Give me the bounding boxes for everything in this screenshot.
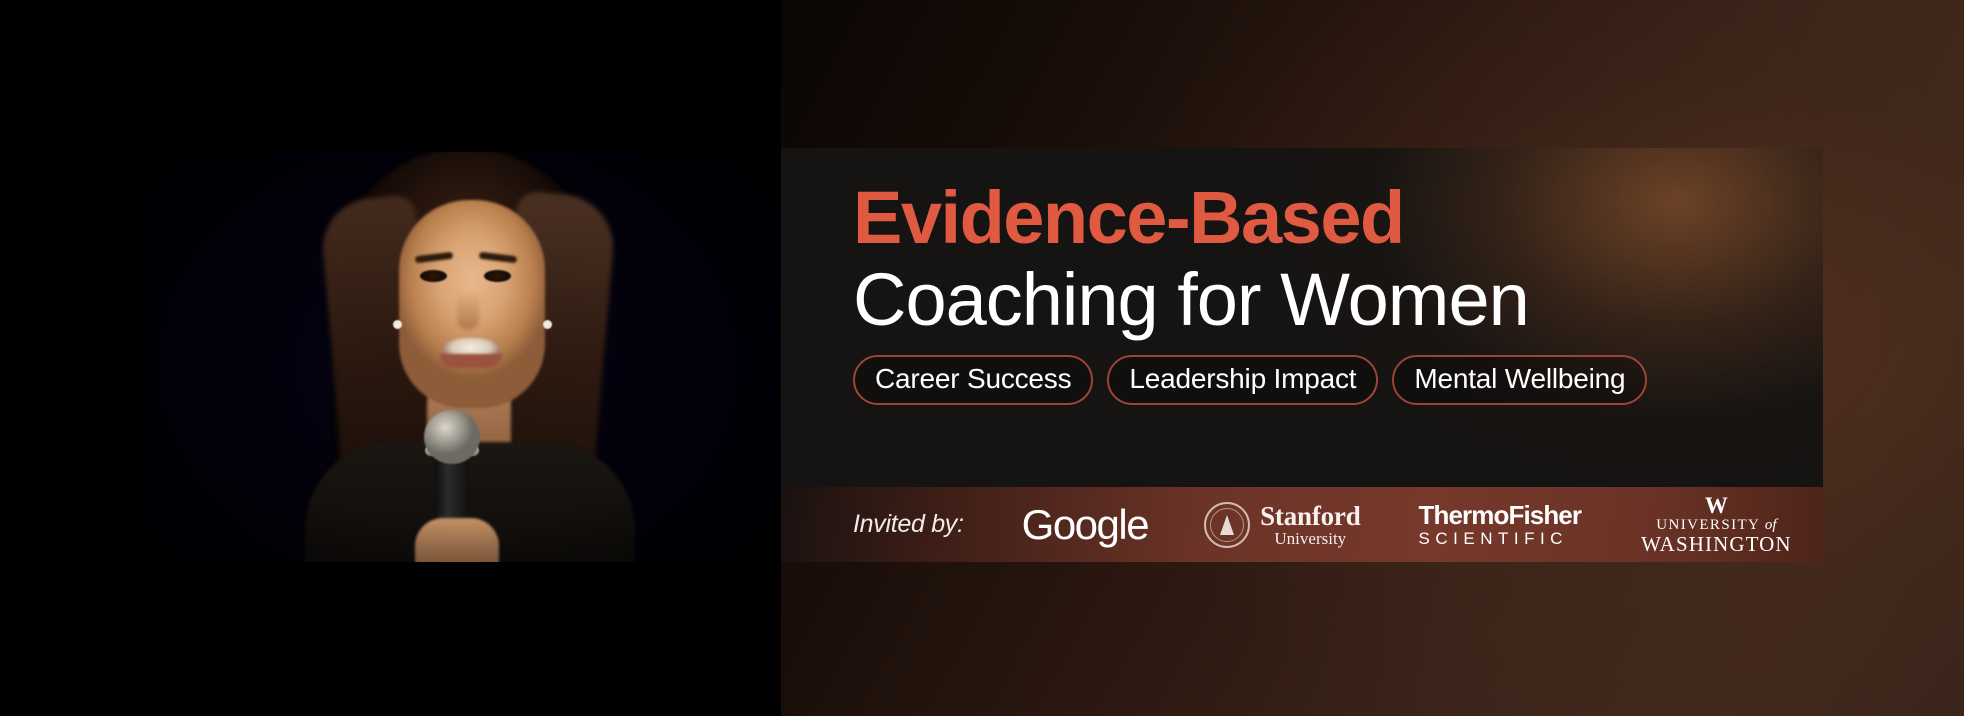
promo-panel: Evidence-Based Coaching for Women Career… (781, 148, 1823, 562)
headline-line-1: Evidence-Based (853, 182, 1823, 255)
topic-pill-career-success[interactable]: Career Success (853, 355, 1093, 405)
uw-university-word: UNIVERSITY (1656, 517, 1759, 533)
stanford-tree-icon (1220, 515, 1234, 535)
promo-content: Evidence-Based Coaching for Women Career… (781, 148, 1823, 405)
uw-monogram-icon: W (1641, 494, 1792, 517)
stanford-logo: Stanford University (1204, 502, 1360, 548)
stanford-wordmark: Stanford University (1260, 502, 1360, 548)
invited-by-label: Invited by: (853, 510, 964, 539)
topic-pill-leadership-impact[interactable]: Leadership Impact (1107, 355, 1378, 405)
portrait-earring-left (393, 320, 402, 329)
promo-banner-stage: Evidence-Based Coaching for Women Career… (0, 0, 1964, 716)
stanford-seal-icon (1204, 502, 1250, 548)
thermo-fisher-logo: ThermoFisher SCIENTIFIC (1419, 502, 1582, 548)
speaker-portrait (247, 152, 677, 562)
speaker-video-tile[interactable] (142, 152, 781, 562)
uw-line-1: UNIVERSITY of (1641, 518, 1792, 533)
portrait-hand (415, 518, 499, 562)
portrait-nose (457, 292, 479, 330)
thermo-fisher-wordmark: ThermoFisher (1419, 502, 1582, 529)
portrait-eye-left (420, 270, 447, 282)
uw-line-2: WASHINGTON (1641, 534, 1792, 555)
headline-line-2: Coaching for Women (853, 263, 1823, 337)
sponsor-bar: Invited by: Google Stanford University T… (781, 487, 1823, 562)
topic-pill-mental-wellbeing[interactable]: Mental Wellbeing (1392, 355, 1647, 405)
portrait-lower-lip (440, 354, 502, 368)
portrait-earring-right (543, 320, 552, 329)
university-of-washington-logo: W UNIVERSITY of WASHINGTON (1641, 494, 1792, 555)
microphone-head-icon (424, 410, 480, 464)
stanford-subtitle: University (1260, 530, 1360, 548)
uw-of-word: of (1765, 517, 1777, 533)
topic-pill-row: Career Success Leadership Impact Mental … (853, 355, 1823, 405)
thermo-fisher-subtitle: SCIENTIFIC (1419, 530, 1582, 547)
stanford-name: Stanford (1260, 502, 1360, 530)
promo-panel-body: Evidence-Based Coaching for Women Career… (781, 148, 1823, 487)
google-logo: Google (1022, 501, 1148, 549)
portrait-eye-right (484, 270, 511, 282)
